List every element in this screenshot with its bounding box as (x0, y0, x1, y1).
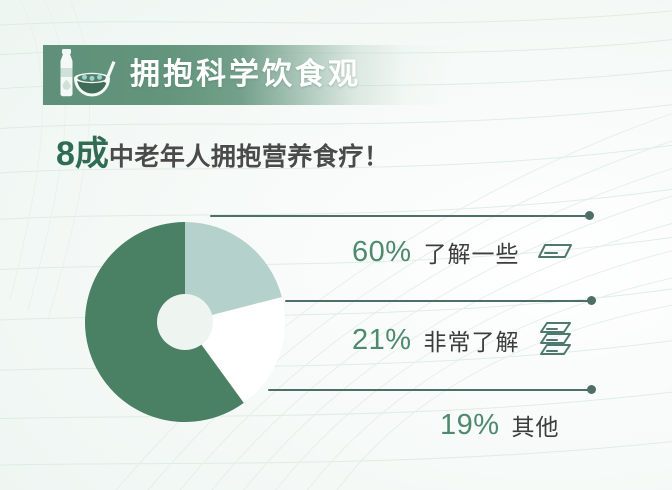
connector-dot-1 (585, 211, 594, 220)
legend-percent: 19% (440, 409, 500, 442)
legend-percent: 21% (352, 324, 412, 357)
donut-chart (82, 219, 288, 425)
subtitle: 8成中老年人拥抱营养食疗！ (56, 134, 389, 181)
donut-hole (157, 294, 213, 350)
legend-label: 了解一些 (424, 235, 520, 269)
legend-item-other[interactable]: 19% 其他 (440, 408, 560, 442)
connector-line-3 (268, 389, 590, 391)
single-slab-icon (534, 239, 576, 265)
subtitle-highlight: 8成 (56, 135, 109, 173)
legend-label: 非常了解 (424, 323, 520, 357)
connector-line-2 (285, 300, 590, 302)
infographic-canvas: 拥抱科学饮食观 8成中老年人拥抱营养食疗！ 60% 了解一些 (0, 0, 672, 490)
legend-percent: 60% (352, 236, 412, 269)
subtitle-rest: 中老年人拥抱营养食疗！ (109, 143, 390, 171)
legend-item-very-familiar[interactable]: 21% 非常了解 (352, 320, 576, 360)
connector-dot-3 (587, 385, 596, 394)
legend-label: 其他 (512, 408, 560, 442)
legend-item-some-understanding[interactable]: 60% 了解一些 (352, 235, 576, 269)
connector-line-1 (210, 215, 588, 217)
stacked-slabs-icon (534, 320, 576, 360)
banner-title: 拥抱科学饮食观 (130, 57, 361, 93)
milk-bottle-and-bowl-icon (50, 48, 122, 102)
connector-dot-2 (587, 296, 596, 305)
